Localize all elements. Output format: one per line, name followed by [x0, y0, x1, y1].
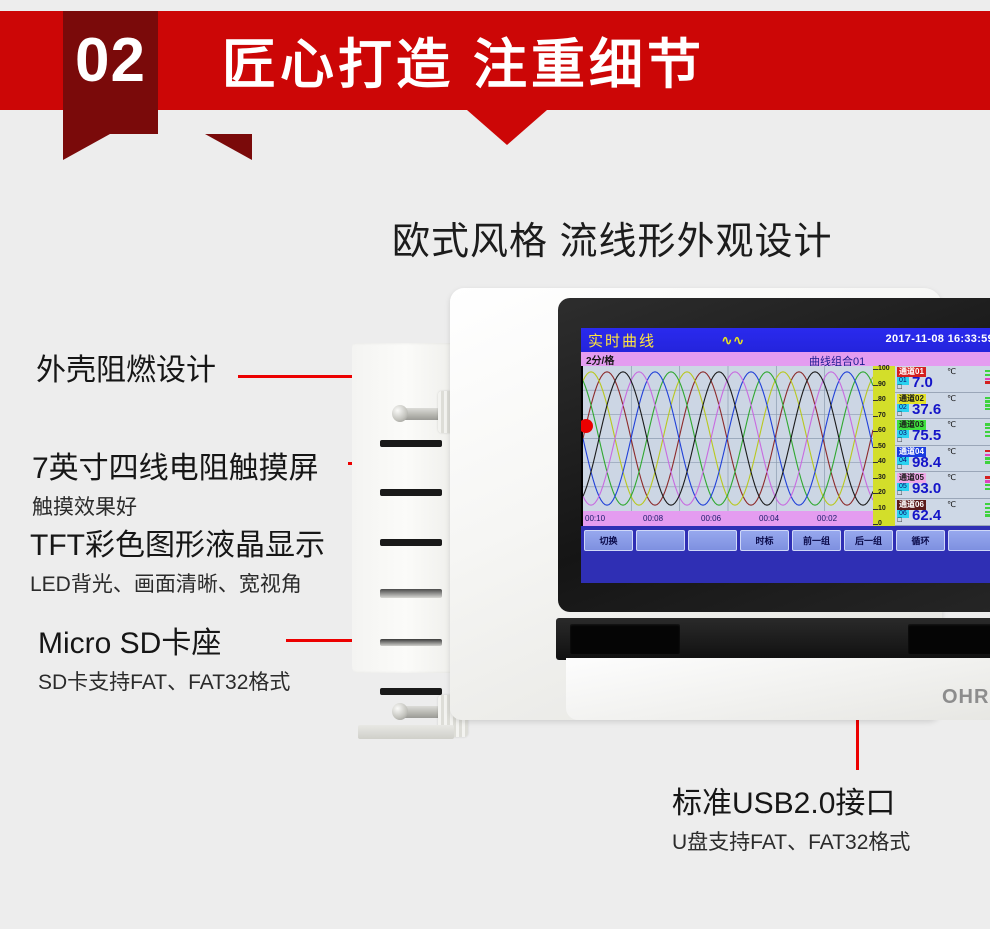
channel-index: 03 — [897, 430, 909, 438]
device-lower-face — [566, 658, 990, 720]
y-tick-label: 30 — [878, 474, 886, 481]
y-tick-label: 100 — [878, 365, 890, 372]
lcd-soft-button[interactable]: 循环 — [896, 530, 945, 551]
channel-unit: ℃ — [947, 394, 956, 403]
annotation-touchscreen: 7英寸四线电阻触摸屏 触摸效果好 — [32, 443, 319, 521]
ribbon-tail — [63, 134, 252, 160]
vent-slot — [380, 489, 442, 496]
annotation-title: Micro SD卡座 — [38, 618, 290, 662]
lcd-screen-title: 实时曲线 — [588, 330, 656, 351]
port-strip — [556, 618, 990, 660]
y-tick-label: 40 — [878, 458, 886, 465]
x-tick-label: 00:04 — [759, 514, 779, 523]
channel-readout-panel: 通道01℃01☐7.0通道02℃02☐37.6通道03℃03☐75.5通道04℃… — [895, 366, 990, 526]
channel-unit: ℃ — [947, 447, 956, 456]
lcd-soft-button[interactable]: 切换 — [584, 530, 633, 551]
y-tick-label: 50 — [878, 443, 886, 450]
channel-checkbox[interactable]: ☐ — [897, 518, 902, 524]
vent-slot — [380, 688, 442, 695]
annotation-usb: 标准USB2.0接口 U盘支持FAT、FAT32格式 — [672, 778, 910, 856]
vent-slot — [380, 589, 442, 598]
annotation-title: TFT彩色图形液晶显示 — [30, 520, 325, 564]
annotation-title: 7英寸四线电阻触摸屏 — [32, 443, 319, 487]
x-tick-label: 00:08 — [643, 514, 663, 523]
vent-slot — [380, 440, 442, 447]
annotation-micro-sd: Micro SD卡座 SD卡支持FAT、FAT32格式 — [38, 618, 290, 696]
device-front-housing: 实时曲线 ∿∿ 2017-11-08 16:33:59 2分/格 曲线组合01 … — [450, 288, 942, 720]
channel-bargraph — [985, 423, 990, 438]
lcd-soft-button[interactable]: 时标 — [740, 530, 789, 551]
channel-bargraph — [985, 370, 990, 385]
channel-index: 04 — [897, 457, 909, 465]
y-tick-label: 60 — [878, 427, 886, 434]
y-tick-label: 90 — [878, 381, 886, 388]
channel-row[interactable]: 通道04℃04☐98.4 — [895, 446, 990, 473]
chart-y-axis: 0102030405060708090100 — [873, 366, 895, 526]
wave-logo-icon: ∿∿ — [721, 332, 744, 349]
channel-value: 98.4 — [912, 455, 941, 471]
lcd-screen[interactable]: 实时曲线 ∿∿ 2017-11-08 16:33:59 2分/格 曲线组合01 … — [581, 328, 990, 583]
channel-value: 62.4 — [912, 508, 941, 524]
channel-unit: ℃ — [947, 473, 956, 482]
vent-slot — [380, 639, 442, 646]
channel-checkbox[interactable]: ☐ — [897, 385, 902, 391]
channel-checkbox[interactable]: ☐ — [897, 491, 902, 497]
channel-value: 7.0 — [912, 375, 933, 391]
micro-sd-port[interactable] — [570, 624, 680, 654]
vent-slot — [380, 539, 442, 546]
channel-index: 02 — [897, 404, 909, 412]
y-tick-label: 80 — [878, 396, 886, 403]
channel-row[interactable]: 通道05℃05☐93.0 — [895, 472, 990, 499]
channel-row[interactable]: 通道03℃03☐75.5 — [895, 419, 990, 446]
channel-checkbox[interactable]: ☐ — [897, 412, 902, 418]
channel-row[interactable]: 通道02℃02☐37.6 — [895, 393, 990, 420]
channel-bargraph — [985, 476, 990, 491]
banner-notch — [467, 110, 547, 145]
y-tick-label: 10 — [878, 505, 886, 512]
brand-logo: OHR — [942, 686, 989, 709]
x-tick-label: 00:10 — [585, 514, 605, 523]
lcd-soft-button[interactable] — [688, 530, 737, 551]
screw-head-icon — [392, 405, 408, 422]
annotation-flame-retardant: 外壳阻燃设计 — [36, 345, 216, 389]
page-headline: 欧式风格 流线形外观设计 — [392, 210, 833, 265]
lcd-soft-button[interactable]: 后一组 — [844, 530, 893, 551]
channel-value: 93.0 — [912, 481, 941, 497]
channel-bargraph — [985, 503, 990, 518]
channel-index: 06 — [897, 510, 909, 518]
channel-bargraph — [985, 397, 990, 412]
channel-row[interactable]: 通道01℃01☐7.0 — [895, 366, 990, 393]
chart-x-axis: 00:1000:0800:0600:0400:02 — [583, 511, 873, 526]
lcd-time-scale: 2分/格 — [586, 352, 614, 367]
channel-index: 01 — [897, 377, 909, 385]
usb-port[interactable] — [908, 624, 990, 654]
x-tick-label: 00:02 — [817, 514, 837, 523]
lcd-soft-button[interactable]: 前一组 — [792, 530, 841, 551]
channel-value: 75.5 — [912, 428, 941, 444]
channel-checkbox[interactable]: ☐ — [897, 438, 902, 444]
chart-gridlines — [583, 366, 873, 511]
annotation-sub: U盘支持FAT、FAT32格式 — [672, 826, 910, 856]
annotation-sub: 触摸效果好 — [32, 491, 319, 521]
channel-value: 37.6 — [912, 402, 941, 418]
annotation-sub: SD卡支持FAT、FAT32格式 — [38, 666, 290, 696]
section-number: 02 — [63, 11, 158, 110]
section-title: 匠心打造 注重细节 — [222, 22, 705, 97]
channel-checkbox[interactable]: ☐ — [897, 465, 902, 471]
annotation-title: 外壳阻燃设计 — [36, 345, 216, 389]
y-tick-label: 20 — [878, 489, 886, 496]
trend-chart-svg — [583, 366, 873, 511]
annotation-title: 标准USB2.0接口 — [672, 778, 910, 822]
channel-unit: ℃ — [947, 500, 956, 509]
annotation-sub: LED背光、画面清晰、宽视角 — [30, 568, 325, 598]
lcd-soft-button[interactable] — [948, 530, 990, 551]
channel-row[interactable]: 通道06℃06☐62.4 — [895, 499, 990, 526]
lcd-soft-button[interactable] — [636, 530, 685, 551]
lcd-subheader — [581, 352, 990, 366]
screw-head-icon — [392, 703, 408, 720]
x-tick-label: 00:06 — [701, 514, 721, 523]
lcd-button-bar: 切换时标前一组后一组循环 — [581, 526, 990, 583]
annotation-tft-display: TFT彩色图形液晶显示 LED背光、画面清晰、宽视角 — [30, 520, 325, 598]
trend-chart-plot[interactable] — [583, 366, 873, 511]
paperless-recorder-device: 实时曲线 ∿∿ 2017-11-08 16:33:59 2分/格 曲线组合01 … — [352, 288, 942, 758]
channel-bargraph — [985, 450, 990, 465]
mounting-bracket — [358, 725, 454, 739]
channel-unit: ℃ — [947, 420, 956, 429]
channel-unit: ℃ — [947, 367, 956, 376]
y-tick-label: 70 — [878, 412, 886, 419]
lcd-timestamp: 2017-11-08 16:33:59 — [886, 333, 990, 345]
